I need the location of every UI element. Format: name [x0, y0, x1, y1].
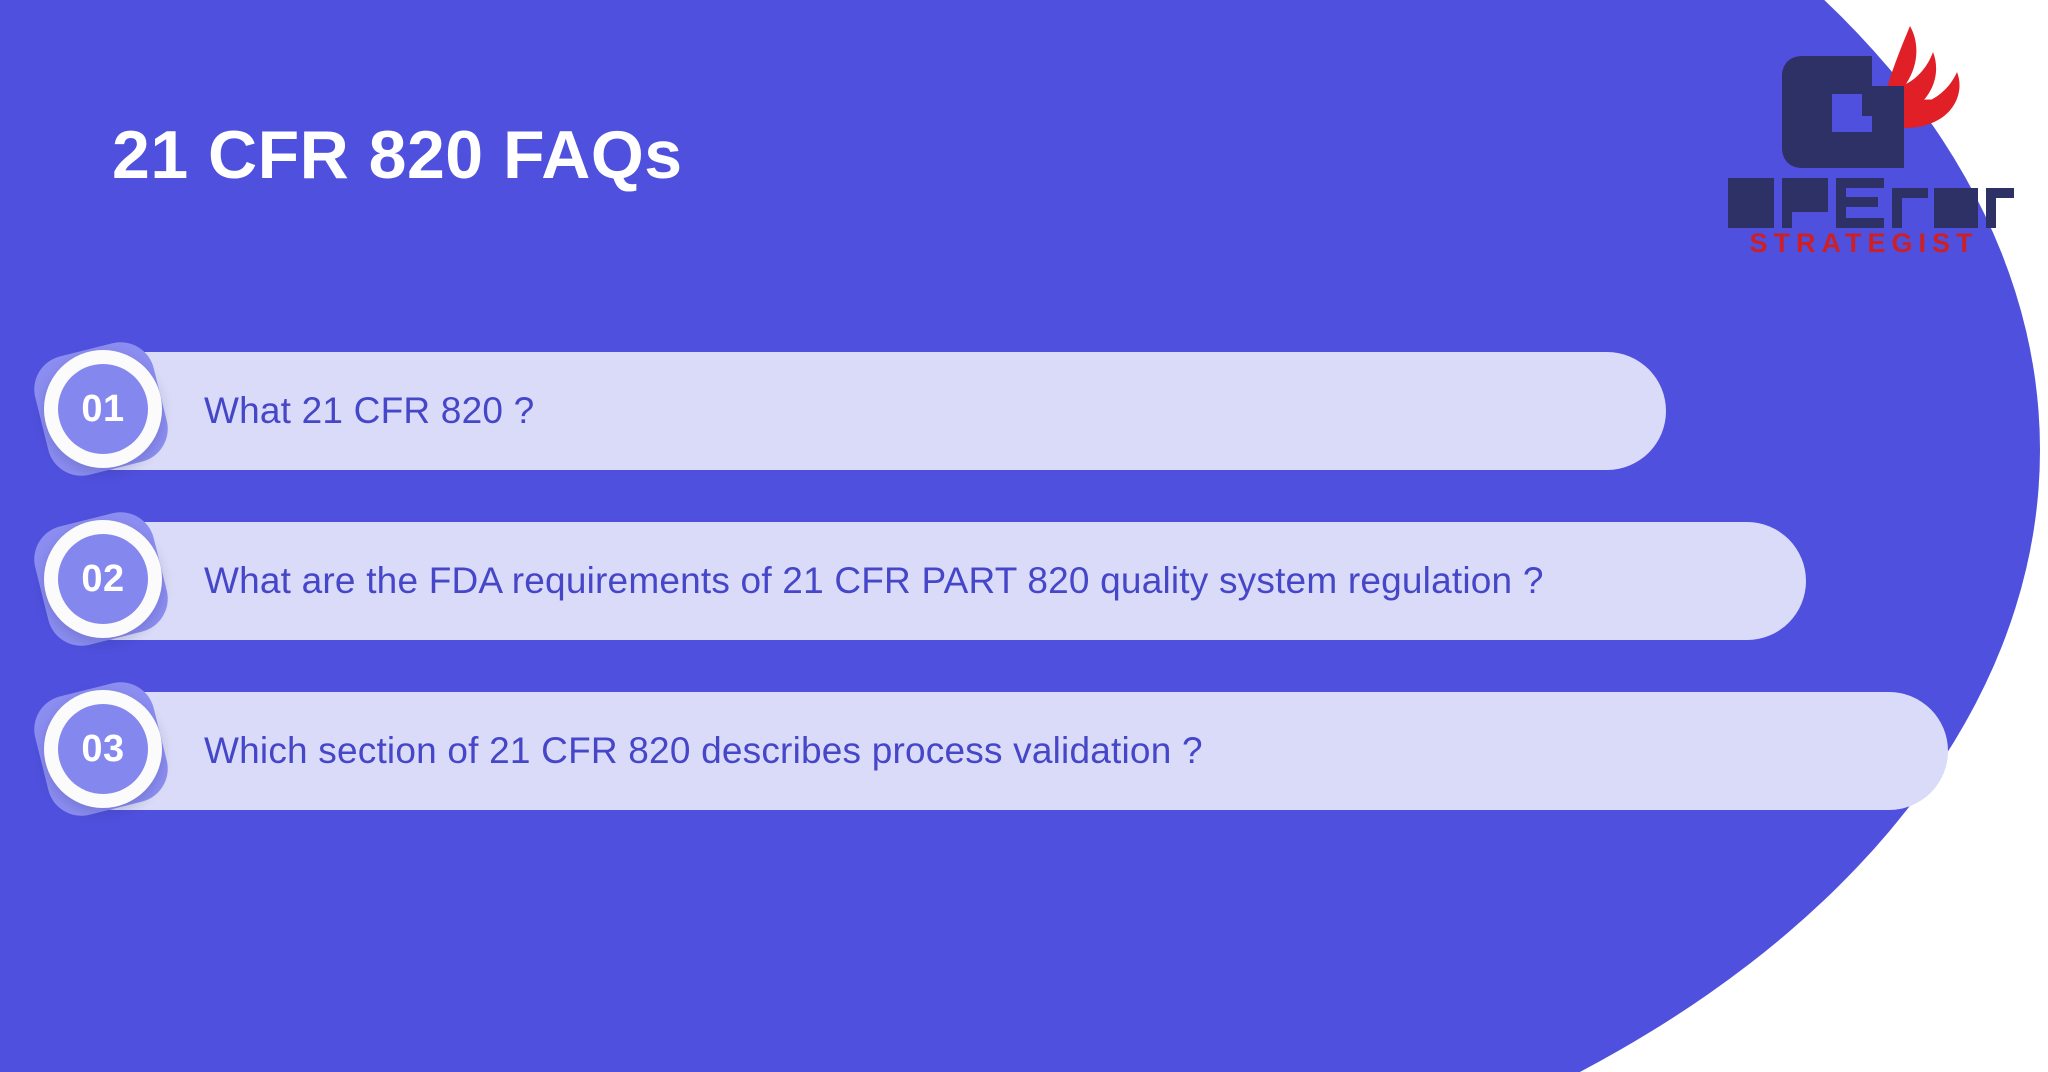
faq-question-02: What are the FDA requirements of 21 CFR …: [204, 560, 1544, 602]
operon-strategist-logo: STRATEGIST: [1714, 18, 2014, 258]
faq-list: What 21 CFR 820 ? 01 What are the FDA re…: [0, 344, 2048, 854]
badge-circle: 03: [58, 704, 148, 794]
faq-item-02[interactable]: What are the FDA requirements of 21 CFR …: [0, 514, 2048, 644]
faq-item-01[interactable]: What 21 CFR 820 ? 01: [0, 344, 2048, 474]
faq-number-02: 02: [81, 558, 124, 601]
faq-pill-02[interactable]: What are the FDA requirements of 21 CFR …: [56, 522, 1806, 640]
faq-number-01: 01: [81, 388, 124, 431]
faq-number-03: 03: [81, 728, 124, 771]
faq-pill-03[interactable]: Which section of 21 CFR 820 describes pr…: [56, 692, 1948, 810]
logo-tagline: STRATEGIST: [1749, 228, 1978, 258]
page-title: 21 CFR 820 FAQs: [112, 118, 683, 193]
faq-slide: 21 CFR 820 FAQs: [0, 0, 2048, 1072]
faq-pill-01[interactable]: What 21 CFR 820 ?: [56, 352, 1666, 470]
faq-badge-02: 02: [18, 514, 168, 644]
faq-badge-01: 01: [18, 344, 168, 474]
faq-question-03: Which section of 21 CFR 820 describes pr…: [204, 730, 1203, 772]
faq-question-01: What 21 CFR 820 ?: [204, 390, 534, 432]
faq-item-03[interactable]: Which section of 21 CFR 820 describes pr…: [0, 684, 2048, 814]
bracket-mark-icon: [1782, 56, 1904, 168]
badge-circle: 02: [58, 534, 148, 624]
logo-wordmark: [1728, 178, 2014, 228]
faq-badge-03: 03: [18, 684, 168, 814]
badge-circle: 01: [58, 364, 148, 454]
